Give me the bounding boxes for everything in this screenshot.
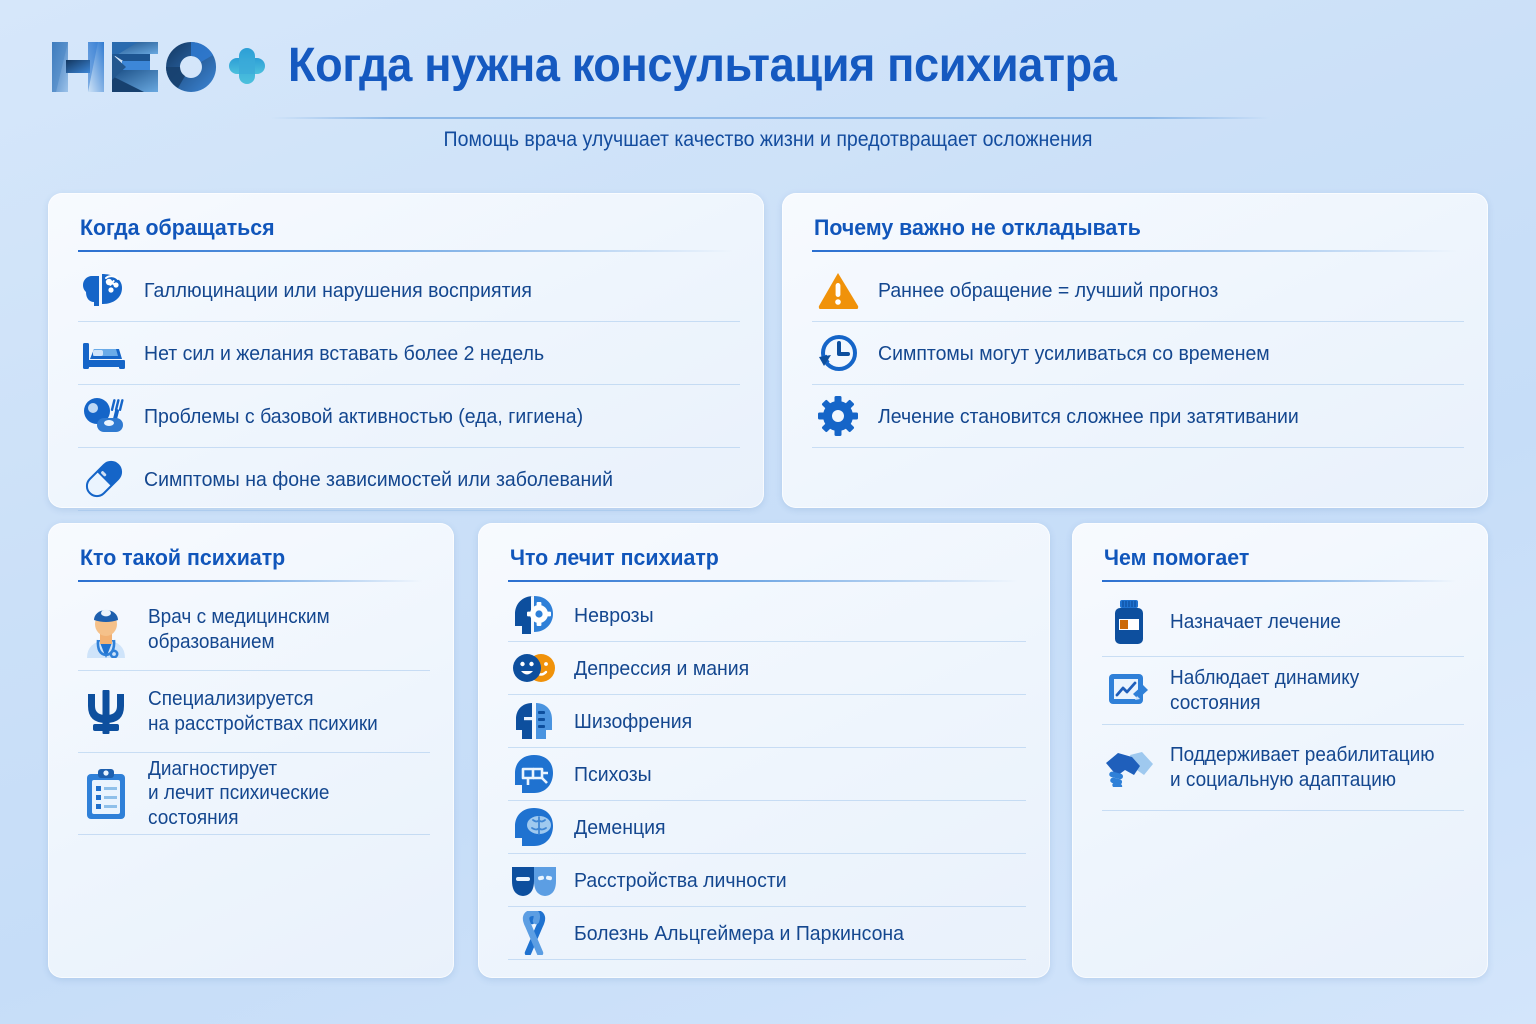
card-what-treats: Что лечит психиатр Невро <box>478 523 1050 978</box>
card-title-underline <box>78 250 732 252</box>
doctor-avatar-icon <box>78 599 134 661</box>
card-title: Кто такой психиатр <box>80 545 285 571</box>
list-item-label: Лечение становится сложнее при затятиван… <box>878 404 1299 429</box>
list-item-label: Нет сил и желания вставать более 2 недел… <box>144 341 544 366</box>
list-item-label: Расстройства личности <box>574 868 787 893</box>
card-how-helps: Чем помогает Назначает леч <box>1072 523 1488 978</box>
list-item-label: Болезнь Альцгеймера и Паркинсона <box>574 921 904 946</box>
list-item-label: Специализируется на расстройствах психик… <box>148 687 378 736</box>
card-rows: Галлюцинации или нарушения восприятия Не… <box>78 259 740 511</box>
header-divider <box>270 117 1270 119</box>
list-item[interactable]: Депрессия и мания <box>508 642 1026 695</box>
list-item-label: Галлюцинации или нарушения восприятия <box>144 278 532 303</box>
list-item-label: Симптомы на фоне зависимостей или заболе… <box>144 467 613 492</box>
list-item[interactable]: Поддерживает реабилитацию и социальную а… <box>1102 725 1464 811</box>
gear-icon <box>812 393 864 439</box>
medicine-bottle-icon <box>1102 597 1156 649</box>
neo-plus-logo <box>46 34 268 100</box>
list-item[interactable]: Шизофрения <box>508 695 1026 748</box>
split-heads-icon <box>508 698 560 744</box>
brain-icon <box>78 267 130 313</box>
clock-icon <box>812 330 864 376</box>
bed-icon <box>78 330 130 376</box>
clipboard-icon <box>78 763 134 825</box>
chart-monitor-icon <box>1102 665 1156 717</box>
card-title: Что лечит психиатр <box>510 545 719 571</box>
list-item[interactable]: Врач с медицинским образованием <box>78 589 430 671</box>
list-item[interactable]: Диагностирует и лечит психические состоя… <box>78 753 430 835</box>
list-item[interactable]: Симптомы на фоне зависимостей или заболе… <box>78 448 740 511</box>
list-item-label: Поддерживает реабилитацию и социальную а… <box>1170 743 1435 792</box>
warning-triangle-icon <box>812 267 864 313</box>
header: Когда нужна консультация психиатра Помощ… <box>0 0 1536 175</box>
plate-fork-icon <box>78 393 130 439</box>
list-item-label: Неврозы <box>574 603 654 628</box>
card-rows: Назначает лечение Наблюдает динамику сос… <box>1102 589 1464 811</box>
page-subtitle: Помощь врача улучшает качество жизни и п… <box>54 128 1482 152</box>
card-when-to-seek-help: Когда обращаться Галлюцинации или наруше… <box>48 193 764 508</box>
list-item-label: Депрессия и мания <box>574 656 749 681</box>
list-item-label: Раннее обращение = лучший прогноз <box>878 278 1218 303</box>
list-item-label: Психозы <box>574 762 652 787</box>
list-item[interactable]: Раннее обращение = лучший прогноз <box>812 259 1464 322</box>
list-item[interactable]: Наблюдает динамику состояния <box>1102 657 1464 725</box>
list-item-label: Проблемы с базовой активностью (еда, гиг… <box>144 404 583 429</box>
card-title-underline <box>1102 580 1456 582</box>
list-item[interactable]: Галлюцинации или нарушения восприятия <box>78 259 740 322</box>
card-title: Когда обращаться <box>80 215 275 241</box>
list-item[interactable]: Деменция <box>508 801 1026 854</box>
head-brain-icon <box>508 804 560 850</box>
card-title: Почему важно не откладывать <box>814 215 1141 241</box>
list-item-label: Симптомы могут усиливаться со временем <box>878 341 1270 366</box>
list-item[interactable]: Психозы <box>508 748 1026 801</box>
handshake-icon <box>1102 742 1156 794</box>
list-item[interactable]: Симптомы могут усиливаться со временем <box>812 322 1464 385</box>
card-rows: Раннее обращение = лучший прогноз Симпто… <box>812 259 1464 448</box>
list-item-label: Назначает лечение <box>1170 610 1341 634</box>
page-title: Когда нужна консультация психиатра <box>288 38 1117 93</box>
card-title-underline <box>78 580 422 582</box>
psi-symbol-icon <box>78 681 134 743</box>
list-item-label: Деменция <box>574 815 666 840</box>
list-item[interactable]: Расстройства личности <box>508 854 1026 907</box>
head-gear-icon <box>508 592 560 638</box>
pill-capsule-icon <box>78 456 130 502</box>
list-item[interactable]: Назначает лечение <box>1102 589 1464 657</box>
list-item-label: Диагностирует и лечит психические состоя… <box>148 757 416 830</box>
list-item[interactable]: Нет сил и желания вставать более 2 недел… <box>78 322 740 385</box>
card-rows: Врач с медицинским образованием Специали… <box>78 589 430 835</box>
card-title: Чем помогает <box>1104 545 1249 571</box>
theater-masks-icon <box>508 857 560 903</box>
list-item-label: Наблюдает динамику состояния <box>1170 666 1449 715</box>
list-item[interactable]: Специализируется на расстройствах психик… <box>78 671 430 753</box>
card-why-not-delay: Почему важно не откладывать Раннее обращ… <box>782 193 1488 508</box>
two-faces-icon <box>508 645 560 691</box>
list-item-label: Врач с медицинским образованием <box>148 605 330 654</box>
list-item[interactable]: Неврозы <box>508 589 1026 642</box>
head-puzzle-icon <box>508 751 560 797</box>
card-who-is-psychiatrist: Кто такой психиатр Врач с меди <box>48 523 454 978</box>
list-item-label: Шизофрения <box>574 709 692 734</box>
awareness-ribbon-icon <box>508 910 560 956</box>
infographic-page: Когда нужна консультация психиатра Помощ… <box>0 0 1536 1024</box>
list-item[interactable]: Лечение становится сложнее при затятиван… <box>812 385 1464 448</box>
list-item[interactable]: Проблемы с базовой активностью (еда, гиг… <box>78 385 740 448</box>
card-title-underline <box>812 250 1456 252</box>
list-item[interactable]: Болезнь Альцгеймера и Паркинсона <box>508 907 1026 960</box>
card-rows: Неврозы Депрессия и мания <box>508 589 1026 960</box>
card-title-underline <box>508 580 1018 582</box>
